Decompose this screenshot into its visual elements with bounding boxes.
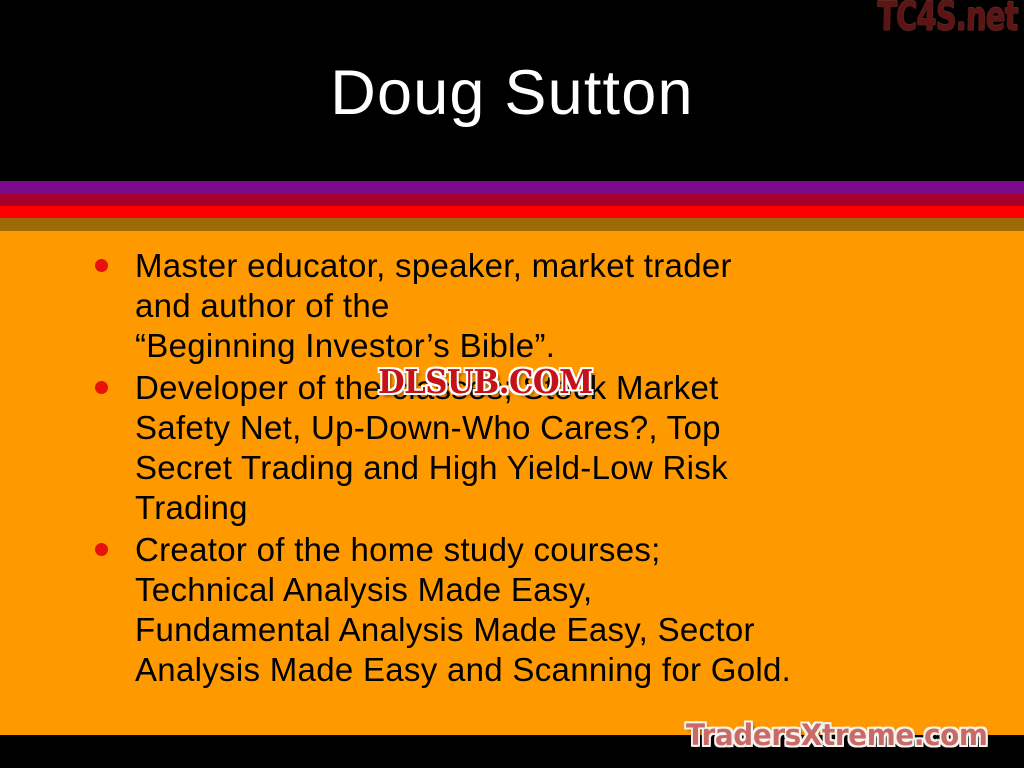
bullet-item: Developer of the classes; Stock Market S… <box>88 368 988 528</box>
bullet-text: Master educator, speaker, market trader … <box>135 246 988 366</box>
presentation-slide: Doug Sutton TC4S.net Master educator, sp… <box>0 0 1024 768</box>
slide-title: Doug Sutton <box>0 58 1024 128</box>
bullet-dot-icon <box>95 543 108 556</box>
bullet-dot-icon <box>95 259 108 272</box>
bullet-text: Creator of the home study courses; Techn… <box>135 530 988 690</box>
stripe-purple <box>0 181 1024 194</box>
stripe-crimson <box>0 194 1024 206</box>
bullet-dot-icon <box>95 381 108 394</box>
stripe-gold <box>0 218 1024 231</box>
bullet-list: Master educator, speaker, market trader … <box>88 246 988 692</box>
bullet-item: Master educator, speaker, market trader … <box>88 246 988 366</box>
stripe-red <box>0 206 1024 218</box>
footer-band <box>0 735 1024 768</box>
bullet-item: Creator of the home study courses; Techn… <box>88 530 988 690</box>
bullet-text: Developer of the classes; Stock Market S… <box>135 368 988 528</box>
